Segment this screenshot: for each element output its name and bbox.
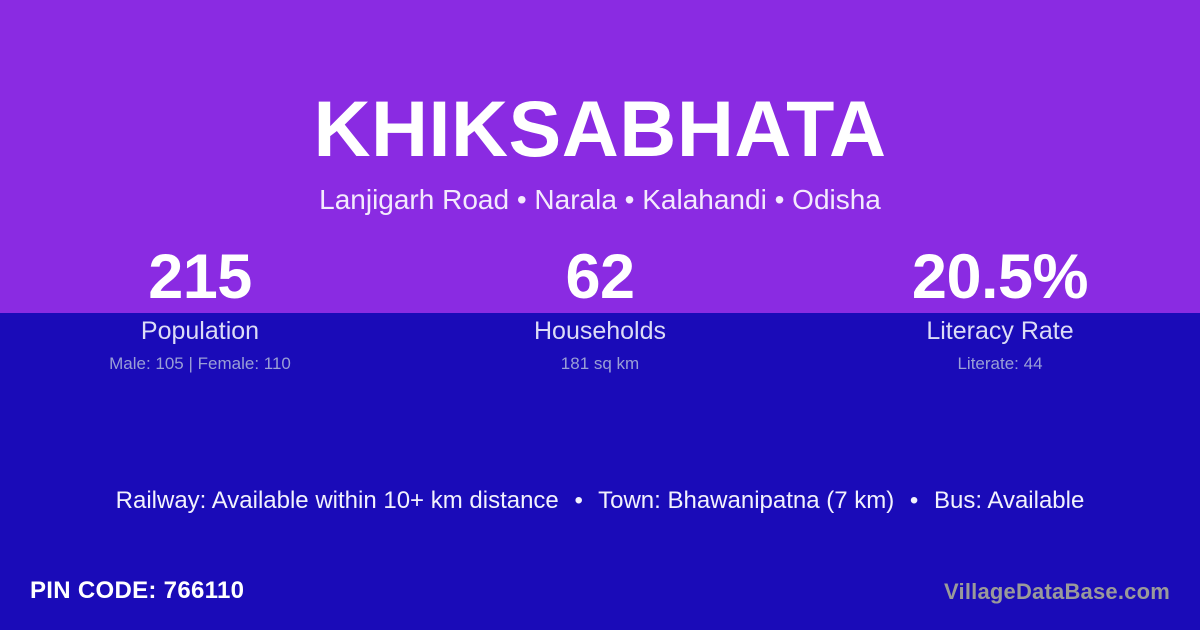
stat-households-sub: 181 sq km (400, 354, 800, 374)
stat-literacy-rate-value: 20.5% (800, 246, 1200, 312)
stat-literacy-rate-sub: Literate: 44 (800, 354, 1200, 374)
stat-households-label: Households (400, 317, 800, 346)
card-footer: PIN CODE: 766110 VillageDataBase.com (0, 576, 1200, 616)
stat-population-value: 215 (0, 246, 400, 312)
amenity-separator-2: • (901, 486, 927, 516)
stat-population-sub: Male: 105 | Female: 110 (0, 354, 400, 374)
stat-households-value: 62 (400, 246, 800, 312)
stat-population: 215 Population Male: 105 | Female: 110 (0, 246, 400, 374)
amenity-town: Town: Bhawanipatna (7 km) (598, 487, 894, 514)
amenity-bus: Bus: Available (934, 487, 1084, 514)
amenity-railway: Railway: Available within 10+ km distanc… (116, 487, 559, 514)
breadcrumb: Lanjigarh Road • Narala • Kalahandi • Od… (0, 183, 1200, 217)
amenity-separator-1: • (565, 486, 591, 516)
stat-literacy-rate-label: Literacy Rate (800, 317, 1200, 346)
page-title: KHIKSABHATA (0, 89, 1200, 168)
village-info-card: KHIKSABHATA Lanjigarh Road • Narala • Ka… (0, 0, 1200, 630)
amenities-line: Railway: Available within 10+ km distanc… (0, 486, 1200, 516)
pin-code: PIN CODE: 766110 (30, 576, 244, 606)
stat-population-label: Population (0, 317, 400, 346)
site-watermark: VillageDataBase.com (944, 578, 1170, 606)
stats-row: 215 Population Male: 105 | Female: 110 6… (0, 246, 1200, 374)
stat-households: 62 Households 181 sq km (400, 246, 800, 374)
stat-literacy-rate: 20.5% Literacy Rate Literate: 44 (800, 246, 1200, 374)
